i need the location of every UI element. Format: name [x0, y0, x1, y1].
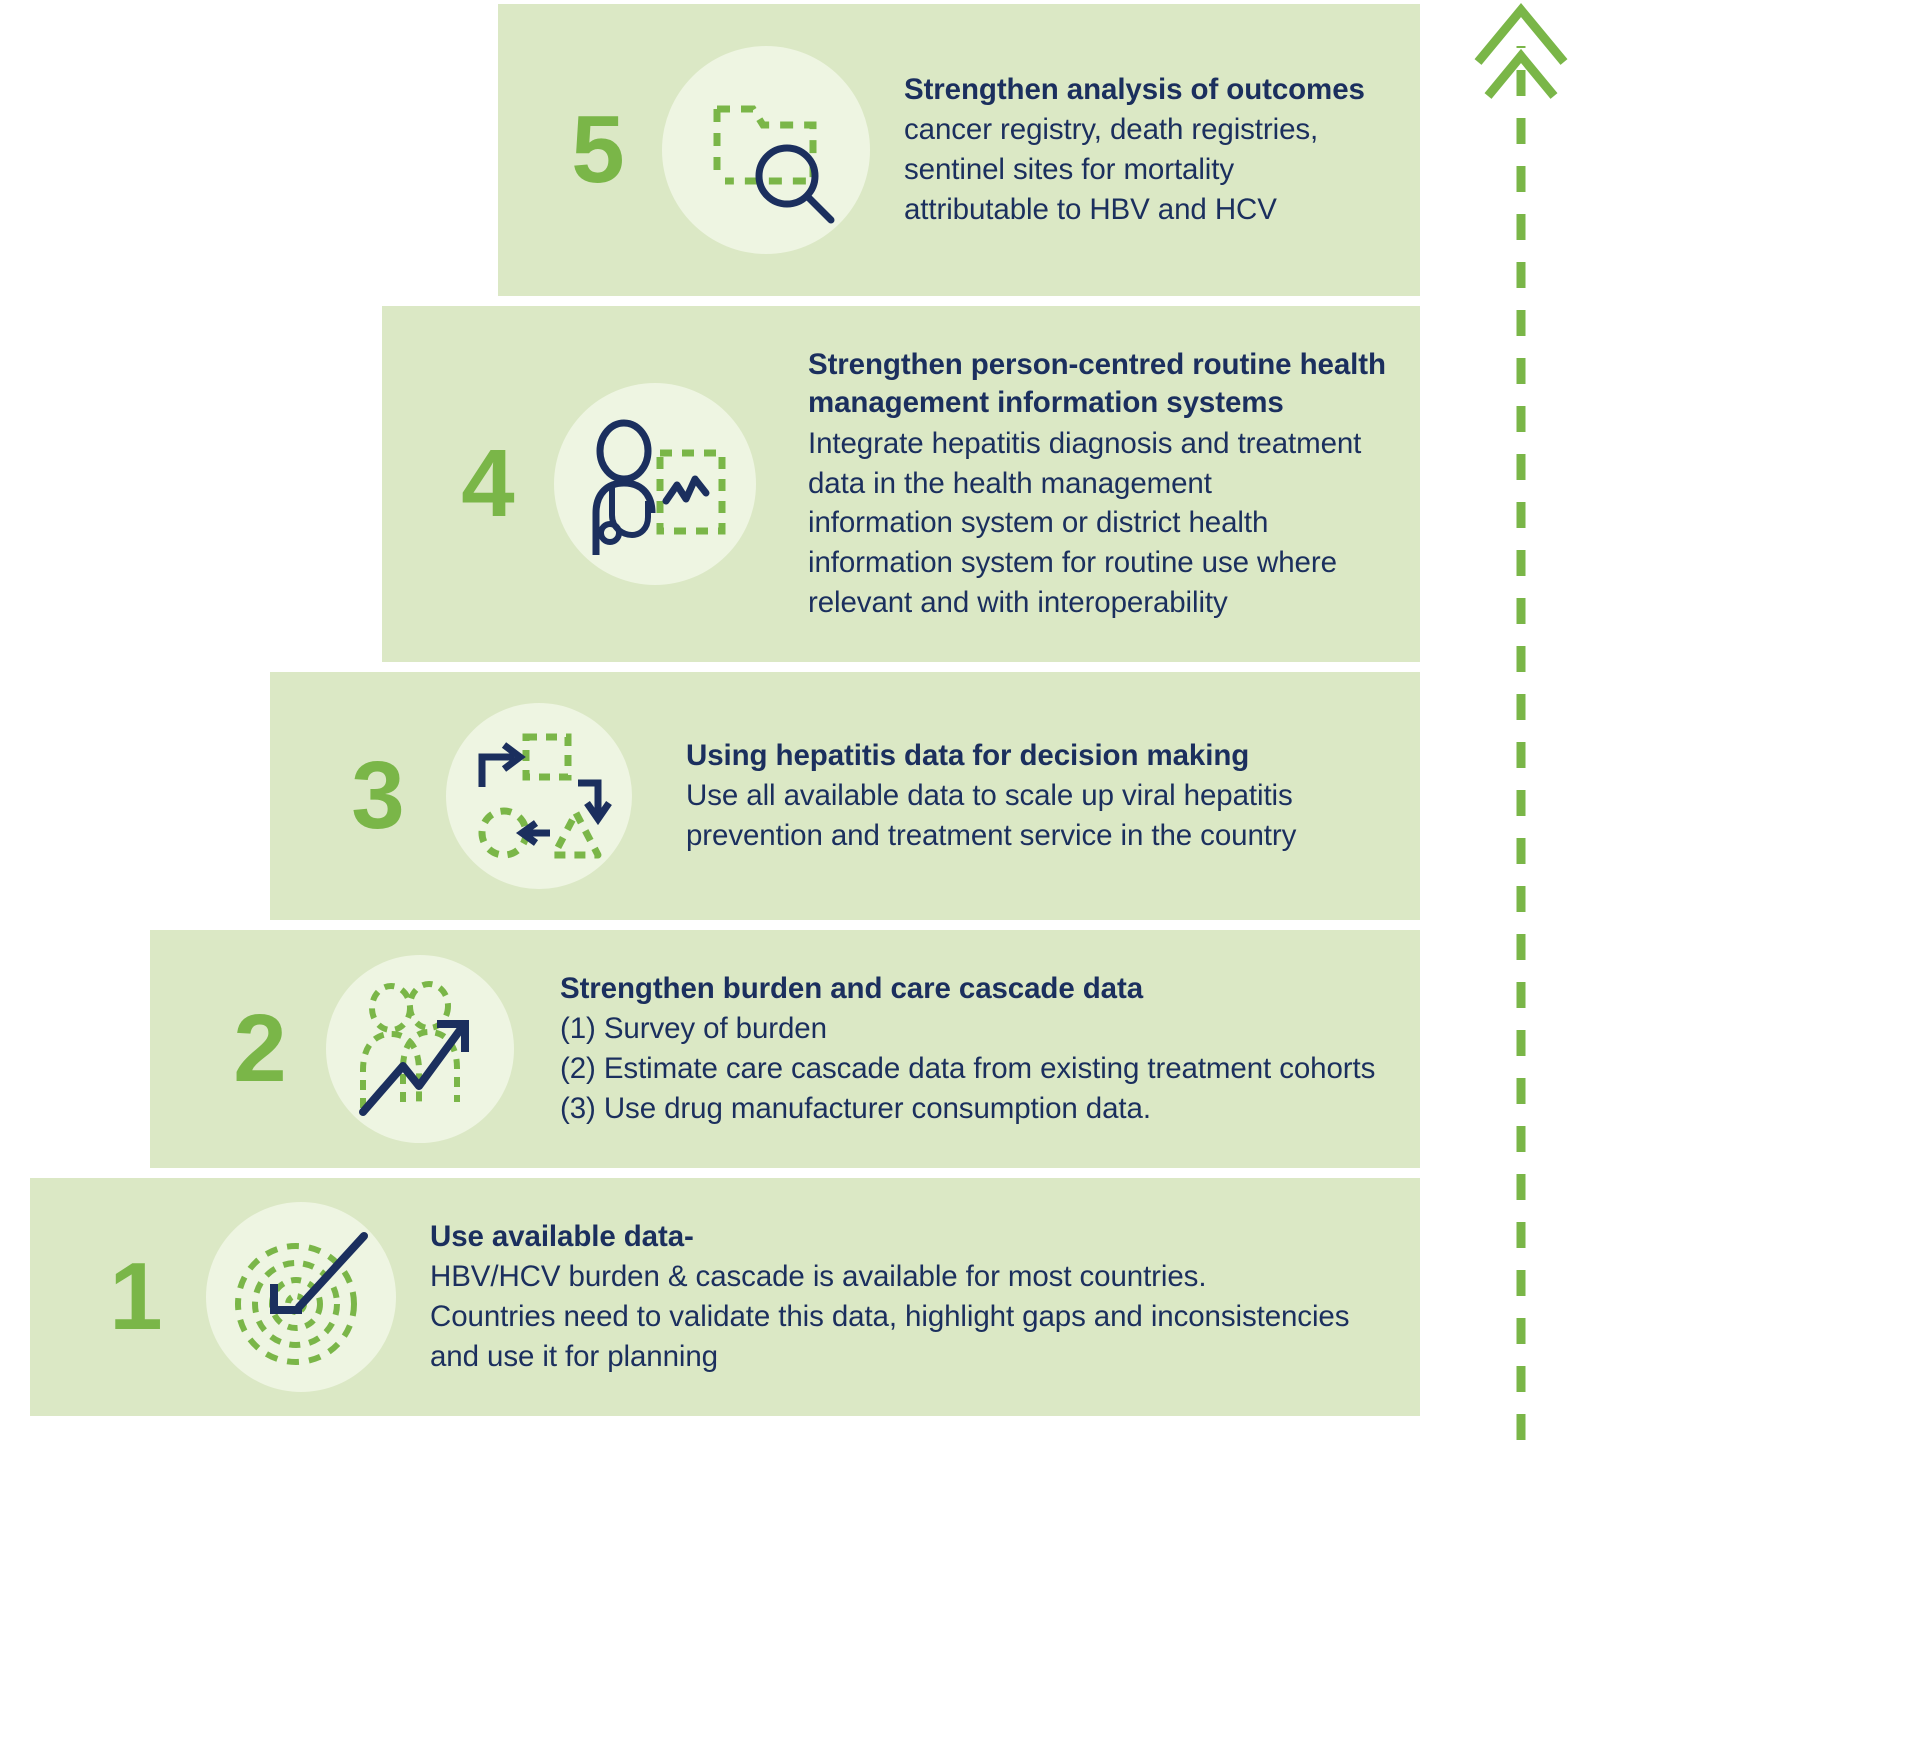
- cycle-shapes-icon: [464, 721, 614, 871]
- step-body-line: attributable to HBV and HCV: [904, 190, 1396, 230]
- infographic-canvas: 5 Strengthen analysis of outcomes cancer…: [0, 0, 1920, 1753]
- step-text-2: Strengthen burden and care cascade data …: [560, 970, 1420, 1129]
- step-number-2: 2: [200, 1001, 320, 1097]
- step-body-line: cancer registry, death registries,: [904, 110, 1396, 150]
- target-arrow-icon: [226, 1222, 376, 1372]
- step-body-line: information system for routine use where: [808, 543, 1396, 583]
- step-icon-badge-1: [206, 1202, 396, 1392]
- step-body-line: (2) Estimate care cascade data from exis…: [560, 1049, 1396, 1089]
- people-growth-arrow-icon: [345, 974, 495, 1124]
- step-text-4: Strengthen person-centred routine health…: [808, 346, 1420, 623]
- step-number-5: 5: [538, 102, 658, 198]
- step-body-line: HBV/HCV burden & cascade is available fo…: [430, 1257, 1396, 1297]
- step-title-1: Use available data-: [430, 1218, 1396, 1257]
- step-icon-badge-3: [446, 703, 632, 889]
- step-body-line: prevention and treatment service in the …: [686, 816, 1396, 856]
- step-title-4: Strengthen person-centred routine health…: [808, 346, 1396, 423]
- step-text-1: Use available data- HBV/HCV burden & cas…: [430, 1218, 1420, 1377]
- step-body-line: information system or district health: [808, 503, 1396, 543]
- step-title-3: Using hepatitis data for decision making: [686, 737, 1396, 776]
- step-body-1: HBV/HCV burden & cascade is available fo…: [430, 1257, 1396, 1376]
- step-panel-5: 5 Strengthen analysis of outcomes cancer…: [498, 4, 1420, 296]
- step-body-line: (3) Use drug manufacturer consumption da…: [560, 1089, 1396, 1129]
- step-title-2: Strengthen burden and care cascade data: [560, 970, 1396, 1009]
- step-body-line: relevant and with interoperability: [808, 583, 1396, 623]
- step-body-line: Use all available data to scale up viral…: [686, 776, 1396, 816]
- step-icon-badge-2: [326, 955, 514, 1143]
- folder-search-icon: [691, 75, 841, 225]
- clinician-chart-icon: [580, 409, 730, 559]
- step-panel-2: 2 Strengthen burden and care cascade dat…: [150, 930, 1420, 1168]
- step-body-line: and use it for planning: [430, 1337, 1396, 1377]
- step-text-3: Using hepatitis data for decision making…: [686, 737, 1420, 856]
- step-number-3: 3: [318, 748, 438, 844]
- dashed-up-arrow-icon: [1466, 1427, 1576, 1444]
- step-body-3: Use all available data to scale up viral…: [686, 776, 1396, 855]
- step-body-line: data in the health management: [808, 464, 1396, 504]
- step-body-line: (1) Survey of burden: [560, 1009, 1396, 1049]
- step-text-5: Strengthen analysis of outcomes cancer r…: [904, 71, 1420, 230]
- step-body-4: Integrate hepatitis diagnosis and treatm…: [808, 424, 1396, 622]
- step-title-line: Strengthen person-centred routine: [808, 348, 1292, 381]
- step-number-1: 1: [76, 1249, 196, 1345]
- step-title-5: Strengthen analysis of outcomes: [904, 71, 1396, 110]
- progress-rail: [1466, 0, 1576, 1440]
- step-panel-1: 1 Use available data- HBV/HCV burden & c…: [30, 1178, 1420, 1416]
- step-icon-badge-4: [554, 383, 756, 585]
- step-number-4: 4: [428, 436, 548, 532]
- step-body-line: Integrate hepatitis diagnosis and treatm…: [808, 424, 1396, 464]
- step-panel-3: 3 Using hepatitis data for decision maki…: [270, 672, 1420, 920]
- step-body-line: Countries need to validate this data, hi…: [430, 1297, 1396, 1337]
- step-body-line: sentinel sites for mortality: [904, 150, 1396, 190]
- step-icon-badge-5: [662, 46, 870, 254]
- step-body-5: cancer registry, death registries, senti…: [904, 110, 1396, 229]
- step-body-2: (1) Survey of burden (2) Estimate care c…: [560, 1009, 1396, 1128]
- step-panel-4: 4 Strengthen person-centred routine heal…: [382, 306, 1420, 662]
